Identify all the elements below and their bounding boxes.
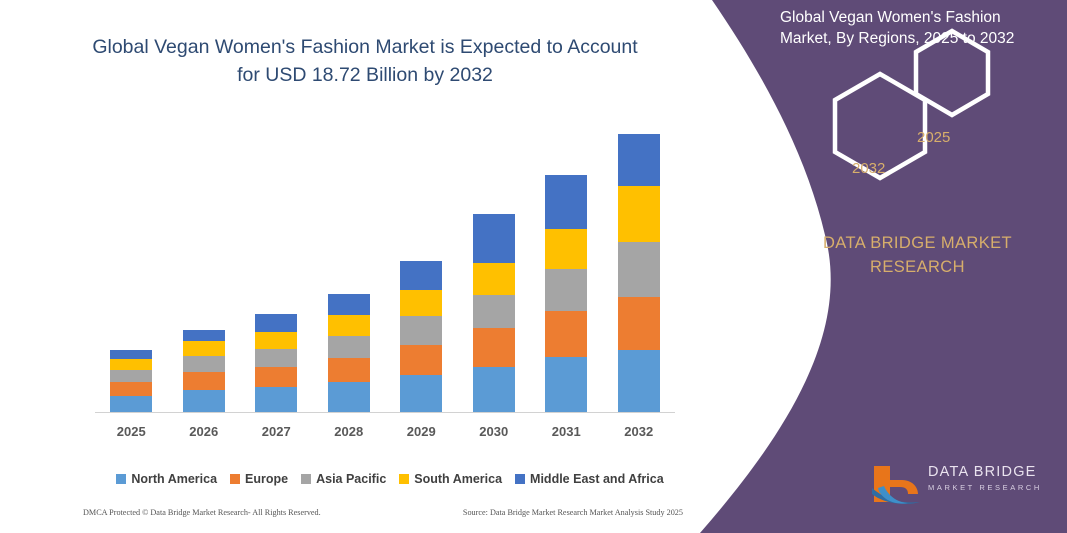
bar-segment (328, 382, 370, 412)
bar-segment (473, 328, 515, 366)
x-tick-2028: 2028 (319, 424, 379, 439)
logo-main-text: DATA BRIDGE (928, 465, 1042, 480)
bar-2029[interactable] (400, 261, 442, 412)
bar-segment (328, 358, 370, 382)
stacked-bar-chart (95, 110, 675, 412)
chart-legend: North AmericaEuropeAsia PacificSouth Ame… (95, 472, 685, 486)
bar-segment (400, 261, 442, 290)
legend-item[interactable]: Europe (230, 472, 288, 486)
footer: DMCA Protected © Data Bridge Market Rese… (83, 508, 683, 517)
bar-segment (255, 332, 297, 349)
bar-segment (545, 269, 587, 311)
bar-segment (255, 367, 297, 387)
x-axis-tick-labels: 20252026202720282029203020312032 (95, 424, 675, 444)
legend-item[interactable]: North America (116, 472, 217, 486)
bar-segment (400, 345, 442, 375)
hexagon-2025-label: 2025 (917, 129, 950, 146)
infographic-root: Global Vegan Women's Fashion Market is E… (0, 0, 1067, 533)
bar-segment (255, 314, 297, 331)
side-panel-title: Global Vegan Women's Fashion Market, By … (780, 8, 1055, 50)
bar-2026[interactable] (183, 330, 225, 413)
bar-segment (473, 367, 515, 412)
bar-2027[interactable] (255, 314, 297, 412)
bar-segment (545, 357, 587, 412)
bar-segment (183, 390, 225, 412)
legend-item[interactable]: Asia Pacific (301, 472, 386, 486)
company-logo: DATA BRIDGE MARKET RESEARCH (868, 462, 1058, 510)
bar-segment (110, 350, 152, 359)
bar-segment (110, 382, 152, 396)
bar-segment (183, 356, 225, 372)
bar-segment (473, 263, 515, 295)
logo-sub-text: MARKET RESEARCH (928, 484, 1042, 492)
bar-segment (328, 294, 370, 315)
side-panel: Global Vegan Women's Fashion Market, By … (640, 0, 1067, 533)
legend-label: Europe (245, 472, 288, 486)
bar-segment (183, 330, 225, 341)
bar-segment (400, 375, 442, 412)
bar-segment (473, 295, 515, 328)
legend-swatch-icon (301, 474, 311, 484)
bar-2025[interactable] (110, 350, 152, 412)
bar-2031[interactable] (545, 175, 587, 412)
side-panel-title-line2: Market, By Regions, 2025 to 2032 (780, 29, 1055, 50)
x-tick-2026: 2026 (174, 424, 234, 439)
brand-name: DATA BRIDGE MARKET RESEARCH (790, 232, 1045, 280)
bar-2028[interactable] (328, 294, 370, 412)
x-tick-2029: 2029 (391, 424, 451, 439)
chart-title-line2: for USD 18.72 Billion by 2032 (70, 62, 660, 90)
side-panel-title-line1: Global Vegan Women's Fashion (780, 8, 1055, 29)
hexagon-2032-label: 2032 (852, 160, 885, 177)
logo-mark-icon (868, 462, 924, 506)
bar-segment (255, 387, 297, 412)
chart-title-line1: Global Vegan Women's Fashion Market is E… (70, 34, 660, 62)
bar-segment (110, 359, 152, 370)
legend-swatch-icon (116, 474, 126, 484)
bar-segment (110, 396, 152, 412)
x-tick-2027: 2027 (246, 424, 306, 439)
brand-line2: RESEARCH (790, 256, 1045, 280)
legend-label: South America (414, 472, 502, 486)
legend-swatch-icon (230, 474, 240, 484)
brand-line1: DATA BRIDGE MARKET (790, 232, 1045, 256)
bar-2030[interactable] (473, 214, 515, 412)
bar-segment (545, 175, 587, 228)
legend-label: Asia Pacific (316, 472, 386, 486)
bar-segment (255, 349, 297, 367)
legend-item[interactable]: South America (399, 472, 502, 486)
bar-segment (183, 341, 225, 356)
x-axis-line (95, 412, 675, 413)
logo-text: DATA BRIDGE MARKET RESEARCH (928, 465, 1042, 491)
bar-segment (328, 315, 370, 335)
bar-segment (183, 372, 225, 390)
chart-title: Global Vegan Women's Fashion Market is E… (70, 34, 660, 89)
legend-swatch-icon (399, 474, 409, 484)
legend-label: North America (131, 472, 217, 486)
x-tick-2025: 2025 (101, 424, 161, 439)
legend-swatch-icon (515, 474, 525, 484)
x-tick-2030: 2030 (464, 424, 524, 439)
bar-segment (110, 370, 152, 382)
bar-segment (473, 214, 515, 263)
bar-segment (400, 316, 442, 344)
bar-segment (400, 290, 442, 316)
bar-segment (545, 229, 587, 269)
footer-copyright: DMCA Protected © Data Bridge Market Rese… (83, 508, 321, 517)
x-tick-2031: 2031 (536, 424, 596, 439)
bar-segment (545, 311, 587, 356)
bar-segment (328, 336, 370, 358)
